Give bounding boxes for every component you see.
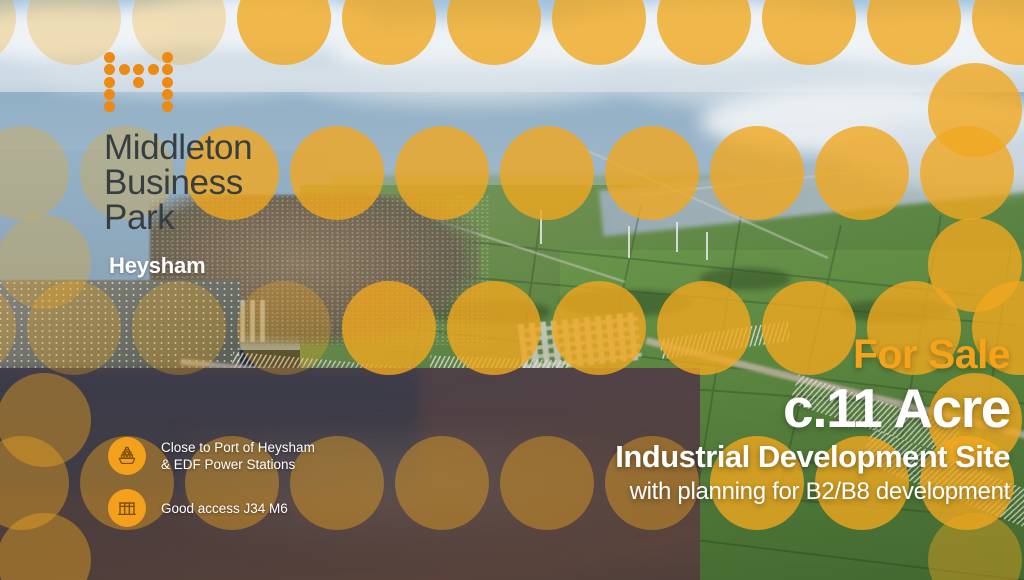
brand-logo-block: Middleton Business Park Heysham [104,52,252,279]
page-subtitle: Industrial Development Site [615,438,1010,476]
marketing-banner: Middleton Business Park Heysham Close to… [0,0,1024,580]
status-badge: For Sale [615,332,1010,377]
brand-name: Middleton Business Park [104,130,252,235]
list-item: Close to Port of Heysham & EDF Power Sta… [108,437,315,475]
page-strapline: with planning for B2/B8 development [615,476,1010,507]
headline-block: For Sale c.11 Acre Industrial Developmen… [615,332,1010,507]
list-item: Good access J34 M6 [108,489,315,527]
wind-turbine [676,222,678,252]
cloud [300,60,640,106]
feature-text: Good access J34 M6 [161,500,288,517]
wind-turbine [540,210,542,244]
feature-list: Close to Port of Heysham & EDF Power Sta… [108,437,315,541]
brand-locality: Heysham [109,253,252,279]
wind-turbine [706,232,708,260]
woodland [700,268,790,290]
wind-turbine [628,226,630,258]
middleton-m-dot-logo-icon [104,52,176,112]
feature-text: Close to Port of Heysham & EDF Power Sta… [161,439,315,473]
bridge-motorway-icon [108,489,146,527]
woodland [840,300,950,322]
page-title: c.11 Acre [615,379,1010,438]
ship-port-icon [108,437,146,475]
